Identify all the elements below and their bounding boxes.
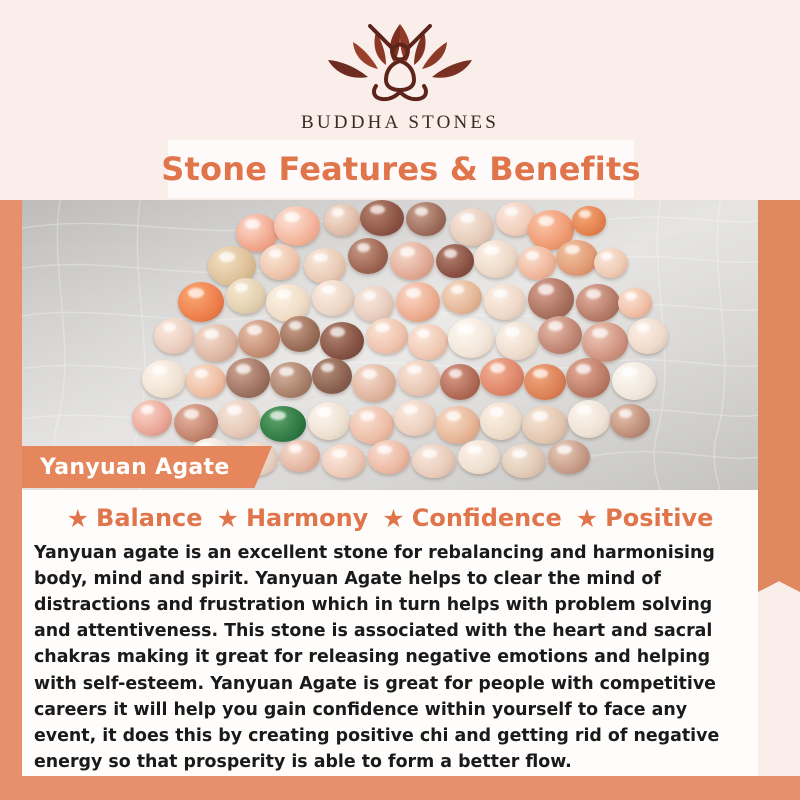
stone-name-ribbon: Yanyuan Agate — [22, 446, 272, 488]
stone-name-label: Yanyuan Agate — [22, 455, 230, 480]
stone-description: Yanyuan agate is an excellent stone for … — [34, 540, 748, 775]
feature-item-confidence: ★ Confidence — [382, 504, 561, 532]
frame-right-tip — [758, 568, 800, 592]
frame-bottom-bar — [0, 776, 800, 800]
feature-item-balance: ★ Balance — [67, 504, 203, 532]
feature-item-harmony: ★ Harmony — [217, 504, 369, 532]
brand-name: BUDDHA STONES — [285, 112, 515, 134]
lotus-meditation-icon — [316, 16, 484, 108]
star-icon: ★ — [217, 506, 239, 531]
feature-label: Balance — [96, 504, 203, 532]
feature-item-positive: ★ Positive — [576, 504, 714, 532]
frame-left-bar — [0, 200, 22, 776]
star-icon: ★ — [382, 506, 404, 531]
feature-label: Harmony — [246, 504, 368, 532]
feature-label: Confidence — [412, 504, 562, 532]
brand-logo: BUDDHA STONES — [285, 16, 515, 134]
title-banner: Stone Features & Benefits — [168, 140, 634, 198]
infographic-page: BUDDHA STONES Stone Features & Benefits — [0, 0, 800, 800]
page-title: Stone Features & Benefits — [161, 150, 640, 188]
feature-keywords: ★ Balance ★ Harmony ★ Confidence ★ Posit… — [22, 490, 758, 532]
content-card: ★ Balance ★ Harmony ★ Confidence ★ Posit… — [22, 490, 758, 776]
star-icon: ★ — [576, 506, 598, 531]
star-icon: ★ — [67, 506, 89, 531]
feature-label: Positive — [605, 504, 713, 532]
